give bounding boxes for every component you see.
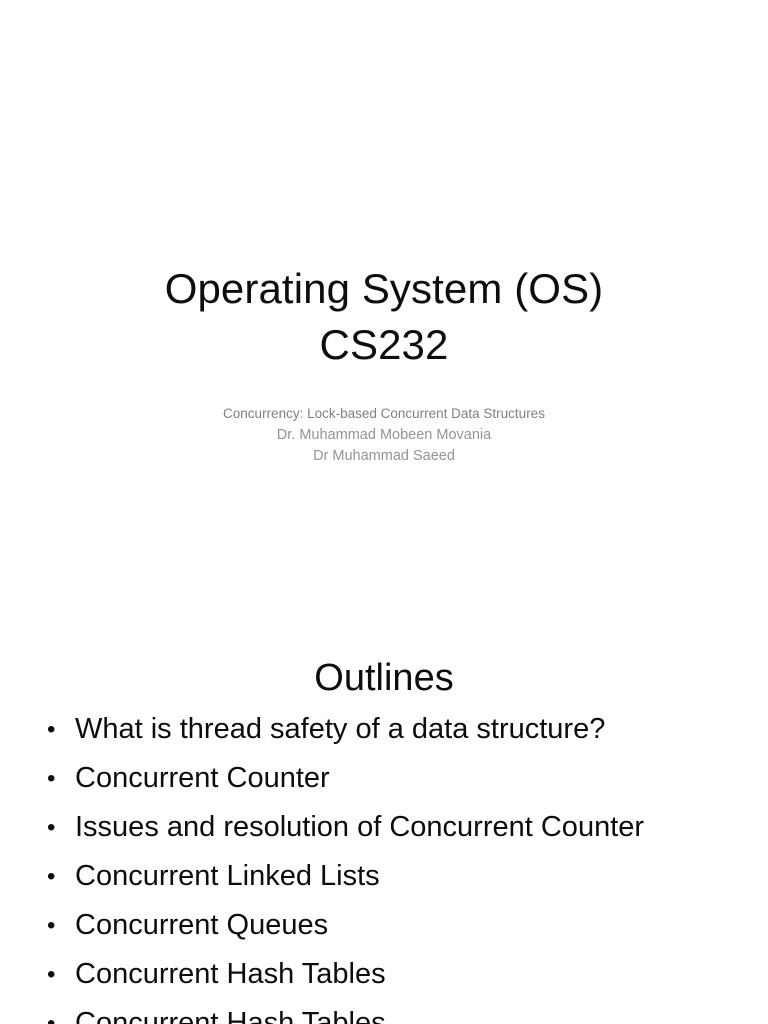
bullet-icon: • — [47, 999, 59, 1024]
document-viewport[interactable]: Operating System (OS) CS232 Concurrency:… — [0, 0, 768, 1024]
bullet-icon: • — [47, 901, 59, 950]
list-item: • Concurrent Queues — [0, 901, 768, 950]
list-item-label: What is thread safety of a data structur… — [75, 713, 605, 745]
deck-title-line-2: CS232 — [0, 317, 768, 373]
bullet-icon: • — [47, 950, 59, 999]
deck-authors: Dr. Muhammad Mobeen Movania Dr Muhammad … — [0, 425, 768, 467]
deck-subtitle: Concurrency: Lock-based Concurrent Data … — [0, 405, 768, 423]
bullet-icon: • — [47, 705, 59, 754]
list-item-label: Issues and resolution of Concurrent Coun… — [75, 811, 644, 843]
list-item-label: Concurrent Hash Tables — [75, 1007, 386, 1024]
list-item-label: Concurrent Queues — [75, 909, 328, 941]
outlines-list: • What is thread safety of a data struct… — [0, 705, 768, 1024]
bullet-icon: • — [47, 803, 59, 852]
list-item-label: Concurrent Hash Tables — [75, 958, 386, 990]
bullet-icon: • — [47, 754, 59, 803]
list-item: • Concurrent Linked Lists — [0, 852, 768, 901]
deck-title: Operating System (OS) CS232 — [0, 261, 768, 373]
author-name-secondary: Dr Muhammad Saeed — [0, 446, 768, 467]
list-item: • Concurrent Hash Tables — [0, 950, 768, 999]
bullet-icon: • — [47, 852, 59, 901]
slide-outlines-page: Outlines • What is thread safety of a da… — [0, 576, 768, 1024]
list-item: • Concurrent Counter — [0, 754, 768, 803]
list-item: • Concurrent Hash Tables — [0, 999, 768, 1024]
list-item: • Issues and resolution of Concurrent Co… — [0, 803, 768, 852]
author-name-primary: Dr. Muhammad Mobeen Movania — [0, 425, 768, 446]
list-item: • What is thread safety of a data struct… — [0, 705, 768, 754]
list-item-label: Concurrent Linked Lists — [75, 860, 380, 892]
list-item-label: Concurrent Counter — [75, 762, 330, 794]
slide-title-page: Operating System (OS) CS232 Concurrency:… — [0, 0, 768, 576]
outlines-heading: Outlines — [0, 654, 768, 702]
deck-title-line-1: Operating System (OS) — [0, 261, 768, 317]
